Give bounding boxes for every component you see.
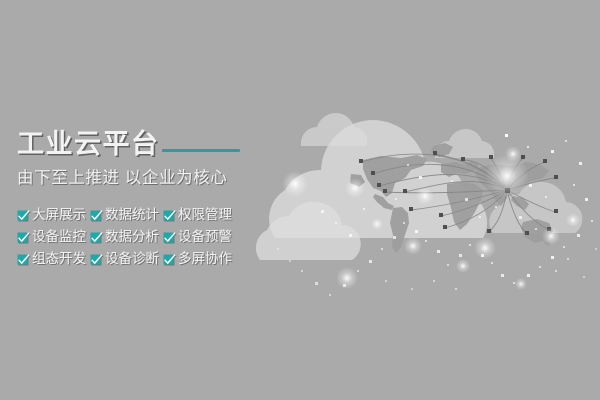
feature-item[interactable]: 多屏协作	[163, 249, 236, 269]
feature-checklist: 大屏展示 数据统计 权限管理	[17, 205, 247, 269]
cloud-world-map-illustration	[255, 88, 600, 313]
feature-item[interactable]: 设备监控	[17, 227, 90, 247]
checkbox-checked-icon	[163, 231, 176, 244]
hero-subtitle: 由下至上推进 以企业为核心	[17, 168, 247, 189]
feature-label: 权限管理	[178, 207, 232, 223]
checkbox-checked-icon	[90, 209, 103, 222]
checkbox-checked-icon	[17, 253, 30, 266]
title-underline-rule	[162, 149, 240, 152]
checkbox-checked-icon	[90, 253, 103, 266]
feature-item[interactable]: 数据分析	[90, 227, 163, 247]
feature-item[interactable]: 设备预警	[163, 227, 236, 247]
checkbox-checked-icon	[90, 231, 103, 244]
hero-text-block: 工业云平台 由下至上推进 以企业为核心 大屏展示	[17, 125, 247, 269]
feature-label: 设备诊断	[105, 251, 159, 267]
page-title: 工业云平台	[17, 129, 160, 159]
checkbox-checked-icon	[163, 209, 176, 222]
feature-label: 设备监控	[32, 229, 86, 245]
feature-item[interactable]: 设备诊断	[90, 249, 163, 269]
feature-label: 设备预警	[178, 229, 232, 245]
feature-label: 组态开发	[32, 251, 86, 267]
feature-label: 数据分析	[105, 229, 159, 245]
checkbox-checked-icon	[163, 253, 176, 266]
checkbox-checked-icon	[17, 209, 30, 222]
feature-label: 数据统计	[105, 207, 159, 223]
feature-item[interactable]: 数据统计	[90, 205, 163, 225]
feature-item[interactable]: 权限管理	[163, 205, 236, 225]
feature-item[interactable]: 组态开发	[17, 249, 90, 269]
feature-label: 多屏协作	[178, 251, 232, 267]
checkbox-checked-icon	[17, 231, 30, 244]
feature-item[interactable]: 大屏展示	[17, 205, 90, 225]
banner-hero: 工业云平台 由下至上推进 以企业为核心 大屏展示	[0, 0, 600, 400]
title-row: 工业云平台	[17, 125, 247, 159]
feature-label: 大屏展示	[32, 207, 86, 223]
